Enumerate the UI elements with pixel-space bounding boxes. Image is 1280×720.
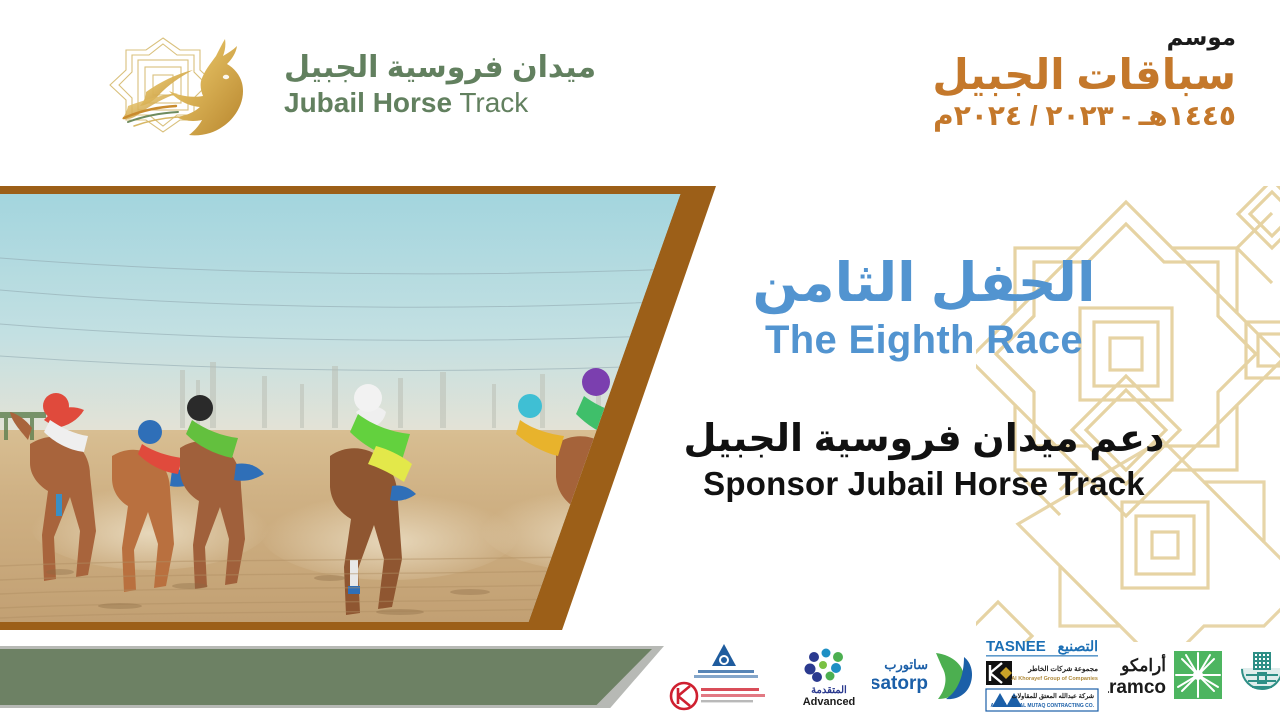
race-title-english: The Eighth Race	[664, 316, 1184, 364]
brand-lockup: ميدان فروسية الجبيل Jubail Horse Track	[108, 30, 596, 140]
green-accent-bar	[0, 646, 664, 708]
sponsor-logo-aramco[interactable]: أرامكو aramco	[1108, 645, 1228, 707]
sponsor-line-english: Sponsor Jubail Horse Track	[664, 463, 1184, 504]
sponsor-logo-royal-commission-jubail[interactable]	[1234, 645, 1280, 707]
alkhorayef-icon: مجموعة شركات الخاطر Al Khorayef Group of…	[986, 661, 1098, 685]
aramco-starburst-icon	[1174, 651, 1222, 699]
sponsor-logo-tasnee-group[interactable]: TASNEE التصنيع مجموعة شركات الخاطر Al Kh…	[982, 635, 1102, 717]
svg-text:TASNEE: TASNEE	[986, 638, 1046, 655]
brand-name-english: Jubail Horse Track	[284, 88, 596, 119]
green-bar-fill	[0, 649, 652, 705]
brand-wordmark: ميدان فروسية الجبيل Jubail Horse Track	[284, 51, 596, 118]
svg-text:مجموعة شركات الخاطر: مجموعة شركات الخاطر	[1027, 665, 1098, 673]
race-title-arabic: الحفل الثامن	[664, 252, 1184, 316]
brand-name-english-light: Track	[459, 87, 528, 118]
poster-canvas: ميدان فروسية الجبيل Jubail Horse Track م…	[0, 0, 1280, 720]
horse-head-emblem-icon	[108, 30, 268, 140]
tasnee-icon: TASNEE التصنيع	[986, 638, 1098, 657]
svg-text:satorp: satorp	[872, 673, 928, 694]
sponsor-logo-strip: المتقدمة Advanced ساتورب satorp TASNEE ا…	[668, 632, 1280, 720]
svg-text:المتقدمة: المتقدمة	[811, 685, 847, 696]
rcjy-icon	[1242, 653, 1280, 689]
svg-text:ABDULLAH AL MUTAQ CONTRACTING: ABDULLAH AL MUTAQ CONTRACTING CO.	[990, 703, 1094, 709]
svg-text:aramco: aramco	[1108, 677, 1166, 698]
satorp-mark-icon	[936, 653, 972, 699]
svg-text:أرامكو: أرامكو	[1119, 653, 1166, 676]
svg-text:Advanced: Advanced	[803, 696, 856, 708]
sponsor-line-arabic: دعم ميدان فروسية الجبيل	[664, 416, 1184, 464]
season-kicker: موسم	[932, 24, 1236, 50]
sponsor-logo-advanced[interactable]: المتقدمة Advanced	[792, 641, 866, 711]
season-lockup: موسم سباقات الجبيل ١٤٤٥هـ - ٢٠٢٣ / ٢٠٢٤م	[932, 24, 1236, 132]
race-copy-block: الحفل الثامن The Eighth Race دعم ميدان ف…	[664, 252, 1184, 504]
advanced-icon	[805, 649, 844, 683]
season-years: ١٤٤٥هـ - ٢٠٢٣ / ٢٠٢٤م	[932, 100, 1236, 132]
marafiq-icon	[694, 644, 758, 678]
race-photo	[0, 194, 700, 622]
svg-text:Al Khorayef Group of Companies: Al Khorayef Group of Companies	[1011, 676, 1098, 682]
khonaini-icon	[671, 683, 765, 709]
race-photo-panel	[0, 186, 716, 630]
svg-text:التصنيع: التصنيع	[1058, 638, 1098, 655]
brand-name-arabic: ميدان فروسية الجبيل	[284, 51, 596, 86]
svg-text:ساتورب: ساتورب	[884, 657, 928, 673]
am-metal-icon: شركة عبدالله المعتق للمقاولات ABDULLAH A…	[986, 689, 1098, 711]
svg-text:شركة عبدالله المعتق للمقاولات: شركة عبدالله المعتق للمقاولات	[1012, 693, 1094, 700]
poster-header: ميدان فروسية الجبيل Jubail Horse Track م…	[0, 0, 1280, 186]
brand-name-english-strong: Jubail Horse	[284, 87, 452, 118]
season-title: سباقات الجبيل	[932, 52, 1236, 98]
sponsor-logo-marafiq-khonaini[interactable]	[668, 638, 786, 714]
sponsor-logo-satorp[interactable]: ساتورب satorp	[872, 645, 976, 707]
